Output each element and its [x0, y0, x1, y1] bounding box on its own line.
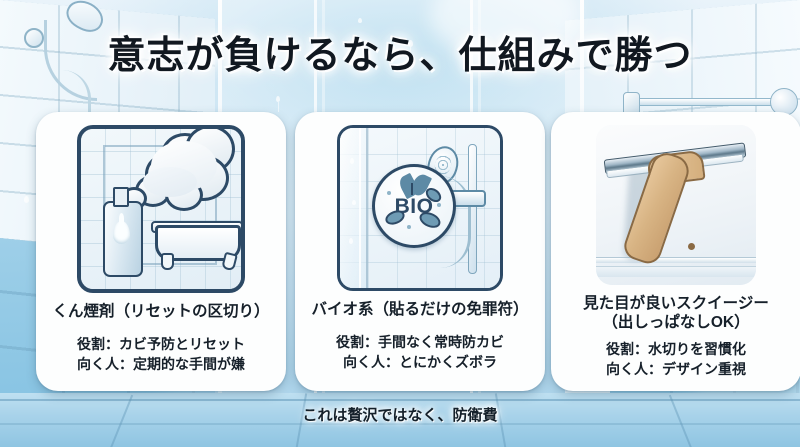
card-bio[interactable]: BIO バイオ系（貼るだけの免罪符） 役割：手間なく常時防カビ 向く人：とにかく… — [295, 112, 545, 391]
smoke-fumigant-icon — [77, 125, 245, 293]
page-title: 意志が負けるなら、仕組みで勝つ — [0, 24, 800, 79]
card-audience: 向く人：定期的な手間が嫌 — [77, 354, 245, 374]
card-role: 役割：水切りを習慣化 — [606, 339, 746, 359]
bio-badge: BIO — [372, 164, 456, 248]
card-detail-rows: 役割：水切りを習慣化 向く人：デザイン重視 — [606, 339, 746, 380]
card-list: くん煙剤（リセットの区切り） 役割：カビ予防とリセット 向く人：定期的な手間が嫌 — [0, 112, 800, 392]
bio-sticker-icon: BIO — [337, 125, 503, 291]
card-detail-rows: 役割：カビ予防とリセット 向く人：定期的な手間が嫌 — [77, 334, 245, 375]
card-squeegee[interactable]: 見た目が良いスクイージー （出しっぱなしOK） 役割：水切りを習慣化 向く人：デ… — [551, 112, 800, 391]
infographic-canvas: 意志が負けるなら、仕組みで勝つ — [0, 0, 800, 447]
card-title: くん煙剤（リセットの区切り） — [42, 303, 280, 322]
card-role: 役割：手間なく常時防カビ — [336, 332, 504, 352]
card-title: 見た目が良いスクイージー （出しっぱなしOK） — [557, 295, 795, 333]
card-detail-rows: 役割：手間なく常時防カビ 向く人：とにかくズボラ — [336, 332, 504, 373]
card-title: バイオ系（貼るだけの免罪符） — [301, 301, 539, 320]
card-role: 役割：カビ予防とリセット — [77, 334, 245, 354]
squeegee-icon — [596, 125, 756, 285]
card-audience: 向く人：とにかくズボラ — [336, 352, 504, 372]
card-fumigant[interactable]: くん煙剤（リセットの区切り） 役割：カビ予防とリセット 向く人：定期的な手間が嫌 — [36, 112, 286, 391]
footer-caption: これは贅沢ではなく、防衛費 — [0, 404, 800, 425]
card-audience: 向く人：デザイン重視 — [606, 359, 746, 379]
